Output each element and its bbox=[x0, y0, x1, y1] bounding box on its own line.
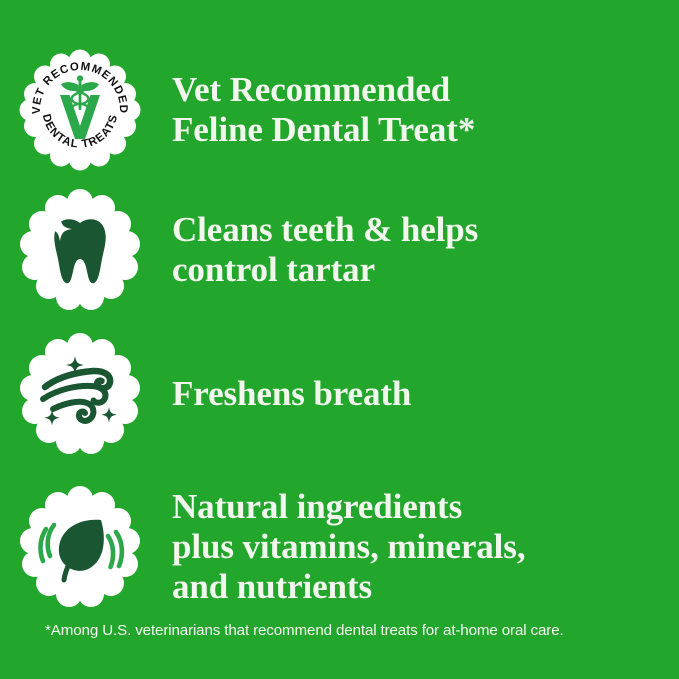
feature-line: Natural ingredients bbox=[172, 487, 525, 527]
feature-row-natural-ingredients: Natural ingredients plus vitamins, miner… bbox=[0, 476, 679, 618]
feature-text-freshens-breath: Freshens breath bbox=[172, 374, 411, 414]
fresh-breath-wind-icon bbox=[17, 331, 143, 457]
badge-natural-leaf bbox=[0, 484, 160, 610]
feature-text-cleans-teeth: Cleans teeth & helps control tartar bbox=[172, 210, 478, 290]
feature-text-vet-recommended: Vet Recommended Feline Dental Treat* bbox=[172, 70, 475, 150]
seal-scallop-shape bbox=[20, 333, 140, 454]
feature-row-vet-recommended: VET RECOMMENDED DENTAL TREATS bbox=[0, 44, 679, 176]
feature-row-freshens-breath: Freshens breath bbox=[0, 328, 679, 460]
feature-line: plus vitamins, minerals, bbox=[172, 527, 525, 567]
sparkling-tooth-icon bbox=[17, 187, 143, 313]
badge-fresh-breath bbox=[0, 331, 160, 457]
feature-line: Feline Dental Treat* bbox=[172, 110, 475, 150]
vet-recommended-seal-icon: VET RECOMMENDED DENTAL TREATS bbox=[17, 47, 143, 173]
feature-line: Cleans teeth & helps bbox=[172, 210, 478, 250]
footnote-disclaimer: *Among U.S. veterinarians that recommend… bbox=[45, 622, 645, 639]
badge-sparkling-tooth bbox=[0, 187, 160, 313]
feature-line: Freshens breath bbox=[172, 374, 411, 414]
badge-vet-recommended-seal: VET RECOMMENDED DENTAL TREATS bbox=[0, 47, 160, 173]
feature-text-natural-ingredients: Natural ingredients plus vitamins, miner… bbox=[172, 487, 525, 607]
feature-line: and nutrients bbox=[172, 567, 525, 607]
leaf-icon bbox=[17, 484, 143, 610]
product-feature-panel: VET RECOMMENDED DENTAL TREATS bbox=[0, 0, 679, 679]
feature-line: Vet Recommended bbox=[172, 70, 475, 110]
feature-row-cleans-teeth: Cleans teeth & helps control tartar bbox=[0, 184, 679, 316]
feature-line: control tartar bbox=[172, 250, 478, 290]
